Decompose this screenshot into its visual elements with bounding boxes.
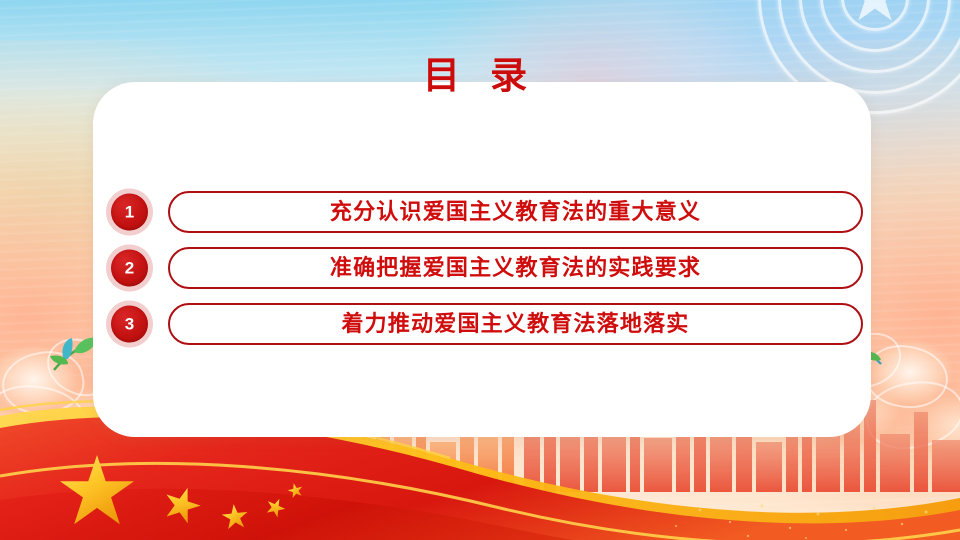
toc-entry-1[interactable]: 1 充分认识爱国主义教育法的重大意义 (106, 190, 866, 234)
table-of-contents: 1 充分认识爱国主义教育法的重大意义 2 准确把握爱国主义教育法的实践要求 3 … (106, 190, 866, 346)
page-title: 目 录 (0, 56, 960, 97)
toc-number-2: 2 (111, 250, 148, 287)
toc-label-2: 准确把握爱国主义教育法的实践要求 (330, 257, 701, 279)
toc-pill-2[interactable]: 准确把握爱国主义教育法的实践要求 (168, 247, 863, 289)
toc-pill-1[interactable]: 充分认识爱国主义教育法的重大意义 (168, 191, 863, 233)
toc-entry-3[interactable]: 3 着力推动爱国主义教育法落地落实 (106, 302, 866, 346)
toc-entry-2[interactable]: 2 准确把握爱国主义教育法的实践要求 (106, 246, 866, 290)
presentation-slide: 目 录 1 充分认识爱国主义教育法的重大意义 2 准确把握爱国主义教育法的实践要… (0, 0, 960, 540)
toc-number-badge-3: 3 (106, 301, 153, 348)
toc-number-3: 3 (111, 306, 148, 343)
toc-number-badge-1: 1 (106, 189, 153, 236)
toc-number-badge-2: 2 (106, 245, 153, 292)
toc-number-1: 1 (111, 194, 148, 231)
toc-pill-3[interactable]: 着力推动爱国主义教育法落地落实 (168, 303, 863, 345)
toc-label-3: 着力推动爱国主义教育法落地落实 (341, 313, 689, 335)
toc-label-1: 充分认识爱国主义教育法的重大意义 (330, 201, 701, 223)
